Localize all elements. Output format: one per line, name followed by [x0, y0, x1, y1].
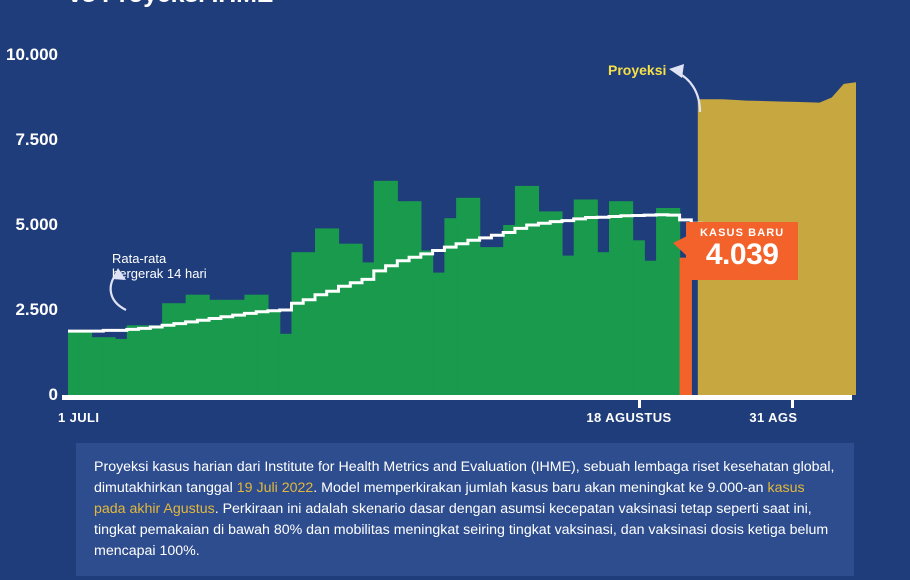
y-axis-tick-label: 5.000 — [15, 215, 58, 235]
x-axis-tick-label: 1 JULI — [58, 410, 99, 425]
y-axis-tick-label: 2.500 — [15, 300, 58, 320]
chart-bar — [562, 256, 574, 395]
chart-bar — [633, 240, 645, 395]
chart-bar — [468, 198, 480, 395]
chart-bar — [609, 201, 621, 395]
chart-bar — [92, 337, 104, 395]
page-title: vs Proyeksi IHME — [68, 0, 273, 9]
chart-bar — [103, 337, 115, 395]
chart-bar — [644, 261, 656, 395]
caption-box: Proyeksi kasus harian dari Institute for… — [76, 443, 854, 576]
chart-bar — [115, 339, 127, 395]
chart-bar — [162, 303, 174, 395]
chart-bar — [574, 200, 586, 396]
chart-bar — [621, 201, 633, 395]
chart-bar — [386, 181, 398, 395]
chart-bar — [315, 228, 327, 395]
chart-bar — [374, 181, 386, 395]
chart-bar — [538, 211, 550, 395]
badge-pointer-icon — [673, 236, 687, 256]
x-axis-tick — [638, 395, 641, 408]
y-axis-tick-label: 10.000 — [6, 45, 58, 65]
caption-part-2: . Model memperkirakan jumlah kasus baru … — [313, 480, 767, 496]
chart-bar — [550, 211, 562, 395]
chart-bar — [291, 252, 303, 395]
chart-bar — [362, 262, 374, 395]
chart-bar — [597, 252, 609, 395]
chart-bar — [303, 252, 315, 395]
chart-bar — [174, 303, 186, 395]
moving-average-annotation: Rata-rata bergerak 14 hari — [112, 252, 207, 282]
chart-bar — [244, 295, 256, 395]
chart-bar — [327, 228, 339, 395]
chart-bar — [139, 325, 151, 395]
status-badge: KASUS BARU 4.039 — [686, 222, 798, 280]
chart-bar — [585, 200, 597, 396]
x-axis-tick — [791, 395, 794, 408]
chart-bar — [491, 247, 503, 395]
chart-bar — [503, 225, 515, 395]
y-axis-tick-label: 7.500 — [15, 130, 58, 150]
chart-bar — [209, 300, 221, 395]
y-axis: 02.5005.0007.50010.000 — [0, 0, 58, 580]
chart-bar — [80, 332, 92, 395]
chart-bar — [197, 295, 209, 395]
chart-bar — [480, 247, 492, 395]
y-axis-tick-label: 0 — [49, 385, 58, 405]
chart-bar — [150, 325, 162, 395]
x-axis-tick-label: 18 AGUSTUS — [586, 410, 671, 425]
chart-bar — [280, 334, 292, 395]
chart-bar — [515, 186, 527, 395]
projection-annotation: Proyeksi — [608, 62, 666, 78]
x-axis-tick-label: 31 AGS — [749, 410, 797, 425]
x-axis-baseline — [62, 395, 852, 400]
chart-bar — [350, 244, 362, 395]
chart-bar — [339, 244, 351, 395]
moving-average-annotation-line2: bergerak 14 hari — [112, 267, 207, 282]
infographic-canvas: vs Proyeksi IHME 02.5005.0007.50010.000 … — [0, 0, 910, 580]
chart-bar — [268, 310, 280, 395]
caption-link-date: 19 Juli 2022 — [237, 480, 314, 496]
chart-bar — [656, 208, 668, 395]
bar-series — [68, 181, 692, 395]
chart-bar — [456, 198, 468, 395]
chart-bar — [68, 330, 80, 395]
chart-bar — [527, 186, 539, 395]
badge-value: 4.039 — [700, 240, 784, 271]
chart-bar — [397, 201, 409, 395]
chart-bar — [433, 273, 445, 395]
chart-bar — [186, 295, 198, 395]
chart-bar — [421, 251, 433, 396]
moving-average-annotation-line1: Rata-rata — [112, 252, 207, 267]
chart-bar — [409, 201, 421, 395]
chart-bar — [127, 325, 139, 395]
